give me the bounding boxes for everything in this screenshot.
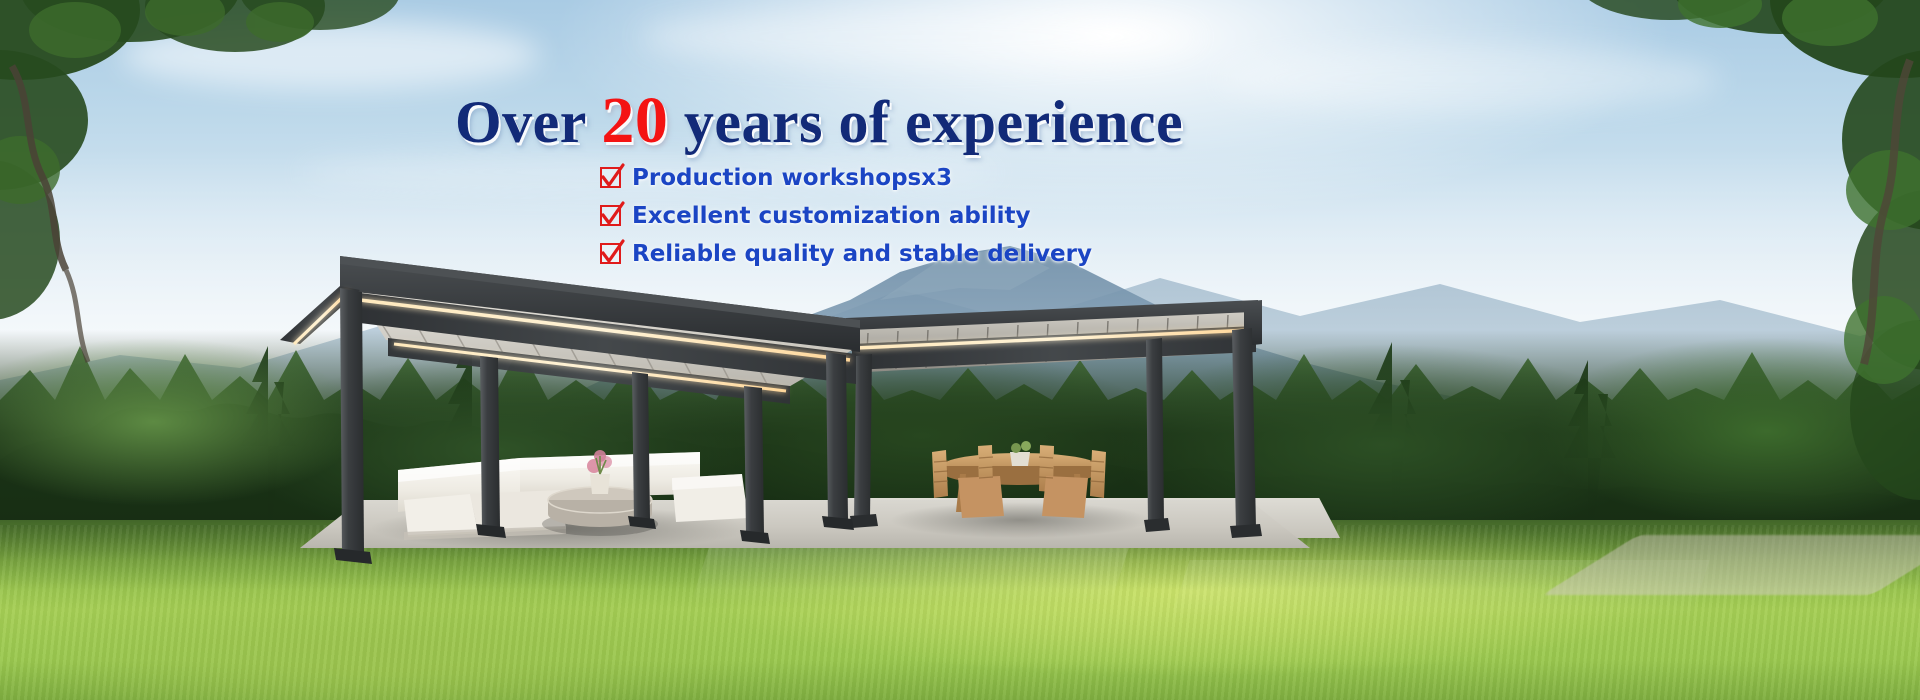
headline-prefix: Over [455, 89, 586, 155]
headline-number: 20 [601, 84, 668, 157]
list-item-label: Production workshopsx3 [632, 165, 952, 191]
list-item: Reliable quality and stable delivery [600, 236, 1092, 271]
feature-list: Production workshopsx3 Excellent customi… [600, 160, 1092, 274]
text-overlay: Over 20 years of experience Production w… [0, 0, 1920, 700]
list-item-label: Excellent customization ability [632, 203, 1030, 229]
checkbox-checked-icon [600, 205, 621, 226]
hero-banner: Over 20 years of experience Production w… [0, 0, 1920, 700]
checkbox-checked-icon [600, 243, 621, 264]
list-item: Production workshopsx3 [600, 160, 1092, 195]
list-item-label: Reliable quality and stable delivery [632, 241, 1092, 267]
list-item: Excellent customization ability [600, 198, 1092, 233]
page-title: Over 20 years of experience [455, 88, 1183, 154]
headline-suffix: years of experience [684, 89, 1183, 155]
checkbox-checked-icon [600, 167, 621, 188]
